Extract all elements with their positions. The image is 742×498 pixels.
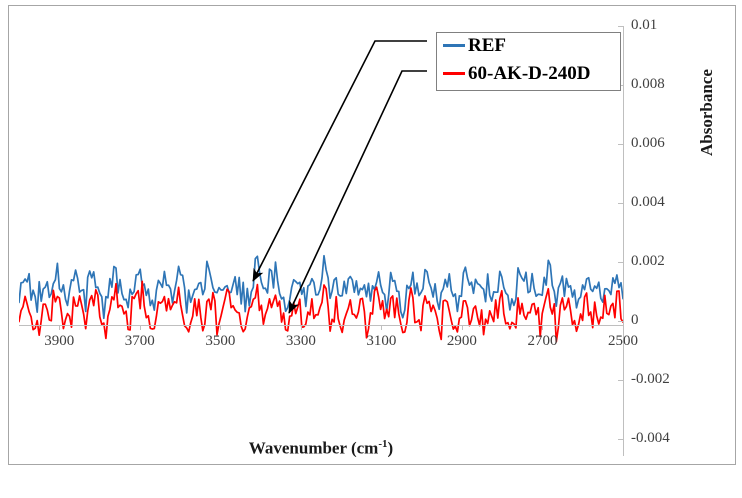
y-tick-mark [618,26,624,27]
y-tick-label: 0.002 [631,254,665,269]
y-tick-mark [618,144,624,145]
x-tick-mark [140,325,141,330]
legend-color-swatch-sample [443,72,465,75]
chart-figure: 0.010.0080.0060.0040.0020-0.002-0.004 39… [0,0,742,498]
x-axis-line [19,325,624,326]
chart-frame: 0.010.0080.0060.0040.0020-0.002-0.004 39… [8,5,736,465]
x-axis-title: Wavenumber (cm-1) [9,438,633,459]
y-axis-line [623,26,624,456]
x-tick-mark [623,325,624,330]
y-tick-label: 0.004 [631,195,665,210]
x-tick-label: 3900 [44,334,74,349]
y-tick-label: -0.004 [631,431,670,446]
x-tick-label: 3700 [125,334,155,349]
x-tick-mark [220,325,221,330]
legend-item-sample[interactable]: 60-AK-D-240D [443,64,590,83]
y-tick-mark [618,203,624,204]
y-tick-label: 0.01 [631,18,657,33]
y-tick-label: -0.002 [631,372,670,387]
y-tick-mark [618,380,624,381]
y-axis-title: Absorbance [697,69,717,156]
x-tick-mark [381,325,382,330]
y-tick-mark [618,262,624,263]
x-tick-label: 3100 [366,334,396,349]
x-axis-title-superscript: -1 [378,438,387,450]
y-tick-label: 0 [631,313,639,328]
x-axis-title-base: Wavenumber (cm [249,439,379,458]
x-tick-label: 3500 [205,334,235,349]
y-tick-mark [618,321,624,322]
legend-item-ref[interactable]: REF [443,36,506,55]
x-tick-label: 2700 [527,334,557,349]
x-tick-mark [301,325,302,330]
y-tick-label: 0.006 [631,136,665,151]
x-tick-label: 2900 [447,334,477,349]
x-tick-mark [462,325,463,330]
legend: REF 60-AK-D-240D [436,32,621,91]
legend-label-sample: 60-AK-D-240D [468,64,590,83]
x-tick-mark [542,325,543,330]
x-tick-mark [59,325,60,330]
x-axis-title-tail: ) [388,439,394,458]
y-tick-label: 0.008 [631,77,665,92]
legend-label-ref: REF [468,36,506,55]
x-tick-label: 2500 [608,334,638,349]
x-tick-label: 3300 [286,334,316,349]
legend-color-swatch-ref [443,44,465,47]
